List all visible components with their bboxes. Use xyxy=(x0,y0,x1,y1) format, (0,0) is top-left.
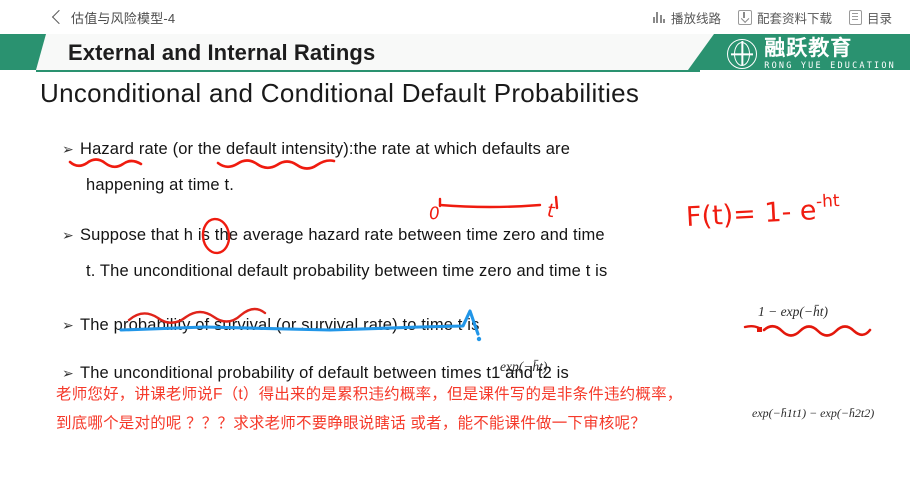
brand-text: 融跃教育 RONG YUE EDUCATION xyxy=(764,38,896,71)
handwritten-formula: F(t)= 1- e-ht xyxy=(685,194,841,233)
handwritten-formula-base: F(t)= 1- e xyxy=(685,195,817,233)
bullet-1-line-2: happening at time t. xyxy=(86,176,234,195)
materials-download-label: 配套资料下载 xyxy=(757,8,832,27)
catalog-button[interactable]: 目录 xyxy=(849,8,892,27)
user-comment-overlay: 老师您好，讲课老师说F（t）得出来的是累积违约概率，但是课件写的是非条件违约概率… xyxy=(56,380,906,438)
playback-route-label: 播放线路 xyxy=(671,8,721,27)
playback-route-button[interactable]: 播放线路 xyxy=(653,8,721,27)
red-ink-dot xyxy=(757,327,762,332)
slide-title-band: External and Internal Ratings 融跃教育 RONG … xyxy=(0,34,910,74)
list-icon xyxy=(849,10,862,25)
brand-name-en: RONG YUE EDUCATION xyxy=(764,62,896,71)
handwritten-timeline-start: 0 xyxy=(428,204,440,225)
comment-line-2: 到底哪个是对的呢 ？？？求求老师不要睁眼说瞎话 或者，能不能课件做一下审核呢？ xyxy=(56,409,906,438)
slide-band-title: External and Internal Ratings xyxy=(68,40,375,66)
globe-logo-icon xyxy=(727,39,757,69)
red-timeline-line xyxy=(440,205,540,207)
red-dash-mark xyxy=(745,326,759,328)
bullet-1-line-1: ➢Hazard rate (or the default intensity):… xyxy=(62,140,570,159)
bullet-2-line-2: t. The unconditional default probability… xyxy=(86,262,607,281)
equation-survival: exp(−h̄t) xyxy=(500,359,547,375)
red-squiggle-equation xyxy=(764,326,870,335)
brand-logo: 融跃教育 RONG YUE EDUCATION xyxy=(727,38,896,71)
bullet-2-line-1: ➢Suppose that h is the average hazard ra… xyxy=(62,226,605,245)
band-underline-rule xyxy=(36,70,700,72)
topbar-actions: 播放线路 配套资料下载 目录 xyxy=(653,8,892,27)
bullet-2-text: Suppose that h is the average hazard rat… xyxy=(80,226,605,244)
handwritten-formula-exponent: -ht xyxy=(815,191,840,212)
equation-unconditional-default: 1 − exp(−h̄t) xyxy=(758,304,828,320)
red-squiggle-default-intensity xyxy=(218,161,334,169)
course-title: 估值与风险模型-4 xyxy=(71,8,175,27)
red-timeline-tick-right xyxy=(556,197,557,208)
blue-dot xyxy=(477,337,481,341)
chevron-left-icon[interactable] xyxy=(52,10,66,24)
slide-headline: Unconditional and Conditional Default Pr… xyxy=(40,78,639,109)
brand-name-cn: 融跃教育 xyxy=(764,38,896,59)
bullet-1-text: Hazard rate (or the default intensity):t… xyxy=(80,140,570,158)
top-app-bar: 估值与风险模型-4 播放线路 配套资料下载 目录 xyxy=(0,0,910,34)
back-button[interactable]: 估值与风险模型-4 xyxy=(54,8,175,27)
handwritten-timeline-end: t xyxy=(546,200,555,222)
catalog-label: 目录 xyxy=(867,8,892,27)
bullet-marker: ➢ xyxy=(62,141,80,158)
comment-line-1: 老师您好，讲课老师说F（t）得出来的是累积违约概率，但是课件写的是非条件违约概率… xyxy=(56,380,906,409)
materials-download-button[interactable]: 配套资料下载 xyxy=(738,8,832,27)
bullet-3-text: The probability of survival (or survival… xyxy=(80,316,479,334)
bullet-marker: ➢ xyxy=(62,227,80,244)
bullet-marker: ➢ xyxy=(62,317,80,334)
equalizer-icon xyxy=(653,11,666,23)
bullet-3-line-1: ➢The probability of survival (or surviva… xyxy=(62,316,479,335)
download-icon xyxy=(738,10,752,25)
red-squiggle-hazard-rate xyxy=(70,160,141,167)
